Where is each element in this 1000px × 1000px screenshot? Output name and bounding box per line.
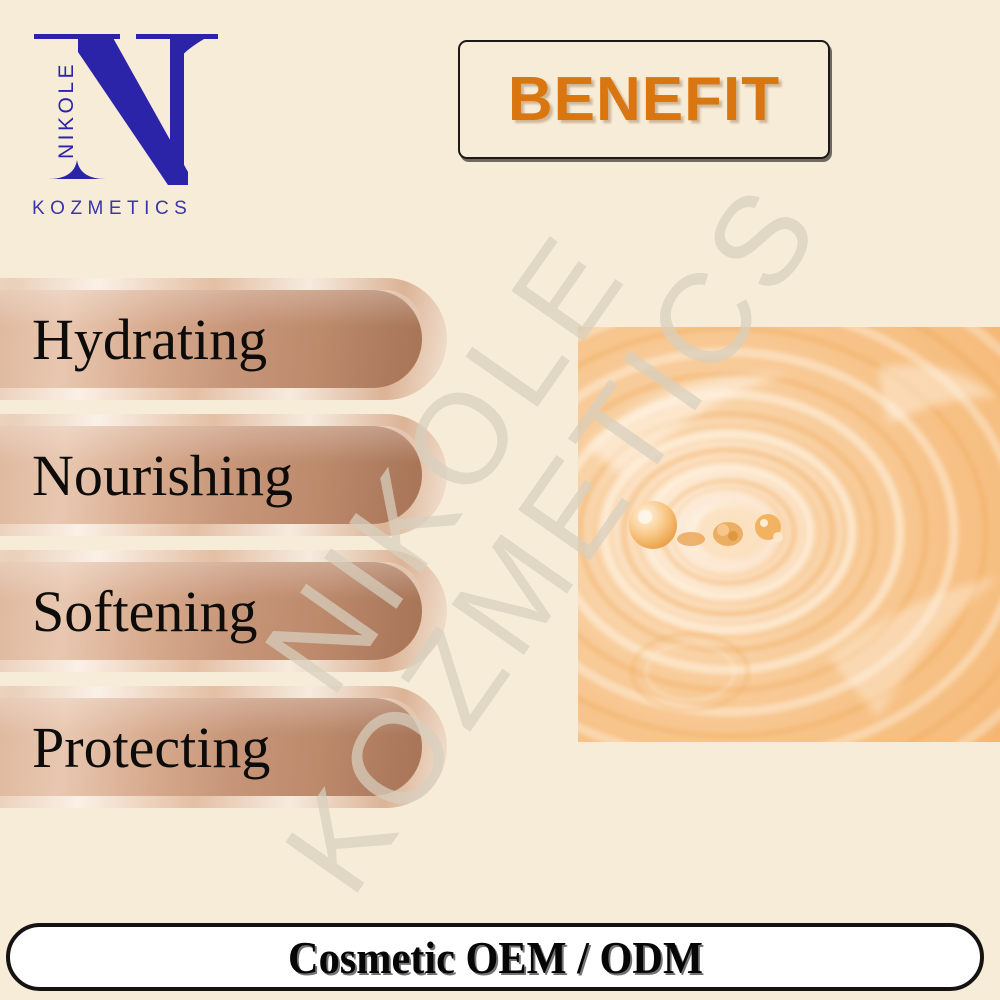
benefit-badge: BENEFIT	[458, 40, 830, 159]
benefit-label: Softening	[32, 562, 258, 660]
footer-banner: Cosmetic OEM / ODM	[6, 923, 984, 991]
poster-canvas: NIKOLE KOZMETICS BENEFIT Hydrating Nouri…	[0, 0, 1000, 1000]
product-image	[578, 327, 1000, 742]
benefit-label: Hydrating	[32, 290, 267, 388]
benefit-badge-label: BENEFIT	[508, 64, 780, 135]
benefit-list: Hydrating Nourishing Softening Protectin…	[0, 0, 470, 830]
benefit-label: Nourishing	[32, 426, 293, 524]
liquid-ripple-illustration	[578, 327, 1000, 742]
benefit-label: Protecting	[32, 698, 270, 796]
footer-label: Cosmetic OEM / ODM	[288, 931, 703, 984]
